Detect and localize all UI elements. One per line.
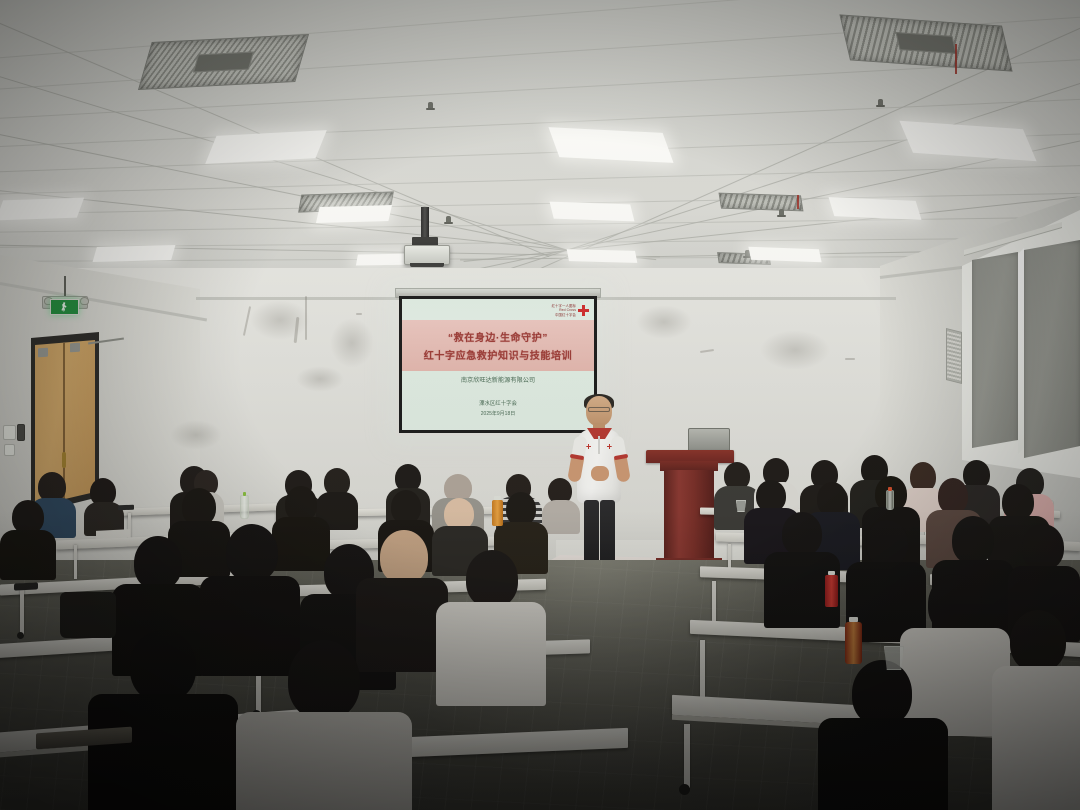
slide-title-line2: 红十字应急救护知识与技能培训: [402, 347, 594, 362]
phone: [118, 505, 134, 511]
phone: [14, 582, 38, 590]
door-push-bar[interactable]: [70, 343, 80, 353]
desk-leg: [20, 589, 24, 635]
exit-sign: [50, 299, 79, 315]
presenter-right-leg: [600, 500, 615, 566]
attendee: [0, 500, 56, 576]
tea-bottle: [825, 575, 838, 607]
wall-socket-plate[interactable]: [4, 444, 15, 456]
exit-sign-stem: [64, 276, 66, 298]
ceiling-panel-light: [567, 249, 638, 263]
presenter-placket: [598, 436, 600, 454]
podium: [664, 470, 714, 562]
sprinkler-head: [779, 209, 784, 216]
red-cross-icon: [586, 444, 591, 449]
ceiling-panel-light: [550, 202, 635, 222]
attendee: [88, 630, 238, 810]
ceiling-panel-light: [829, 197, 922, 220]
ceiling-panel-light: [316, 205, 392, 223]
ac-diffuser-vent: [138, 34, 309, 90]
sprinkler-head: [446, 216, 451, 223]
tea-bottle: [845, 622, 862, 664]
ceiling: [0, 0, 1080, 292]
slide-organization: 南京欣旺达新能源有限公司: [402, 375, 594, 384]
paper-cup: [736, 500, 746, 512]
attendee: [818, 660, 948, 810]
ceiling-panel-light: [93, 245, 176, 262]
desk-caster: [17, 632, 24, 639]
ceiling-panel-light: [548, 127, 673, 163]
attendee: [236, 640, 412, 810]
ceiling-panel-light: [899, 121, 1036, 161]
blind-gap: [1018, 248, 1024, 454]
water-bottle: [240, 495, 249, 519]
wall-air-vent: [946, 328, 962, 384]
presenter-laptop[interactable]: [688, 428, 730, 452]
sprinkler-head: [428, 102, 433, 109]
door-push-bar[interactable]: [38, 348, 48, 358]
slide-title-band: [402, 320, 594, 371]
projector: [404, 245, 450, 265]
ceiling-panel-light: [748, 247, 821, 262]
logo-text-line3: 中国红十字会: [537, 313, 576, 317]
running-man-icon: [61, 302, 68, 312]
classroom-photo: 红十字一人图标 Red Cross 中国红十字会 “救在身边·生命守护” 红十字…: [0, 0, 1080, 810]
paper-cup: [884, 646, 904, 670]
ceiling-panel-light: [0, 198, 84, 221]
bag: [60, 592, 116, 638]
wall-switch-plate[interactable]: [3, 425, 16, 440]
desk-leg: [74, 545, 77, 579]
red-cross-icon: [578, 305, 589, 316]
roller-blind[interactable]: [972, 252, 1018, 448]
roller-blind[interactable]: [1024, 240, 1080, 458]
wall-intercom[interactable]: [17, 424, 25, 441]
presenter-glasses: [588, 407, 610, 412]
attendee: [992, 610, 1080, 810]
sprinkler-head: [878, 99, 883, 106]
tea-bottle: [492, 500, 503, 526]
door-handle[interactable]: [62, 452, 66, 468]
presenter-hands: [591, 466, 609, 481]
desk-leg: [684, 724, 690, 788]
ac-diffuser-vent: [719, 193, 804, 212]
water-bottle: [886, 490, 894, 510]
red-cross-logo: 红十字一人图标 Red Cross 中国红十字会: [537, 302, 589, 319]
desk-caster: [679, 784, 690, 795]
presenter-left-leg: [584, 500, 599, 566]
projector-mount-pole: [421, 207, 429, 239]
attendee: [436, 550, 546, 700]
emergency-lamp: [80, 297, 89, 305]
ceiling-panel-light: [205, 130, 327, 164]
slide-title-line1: “救在身边·生命守护”: [402, 329, 594, 344]
